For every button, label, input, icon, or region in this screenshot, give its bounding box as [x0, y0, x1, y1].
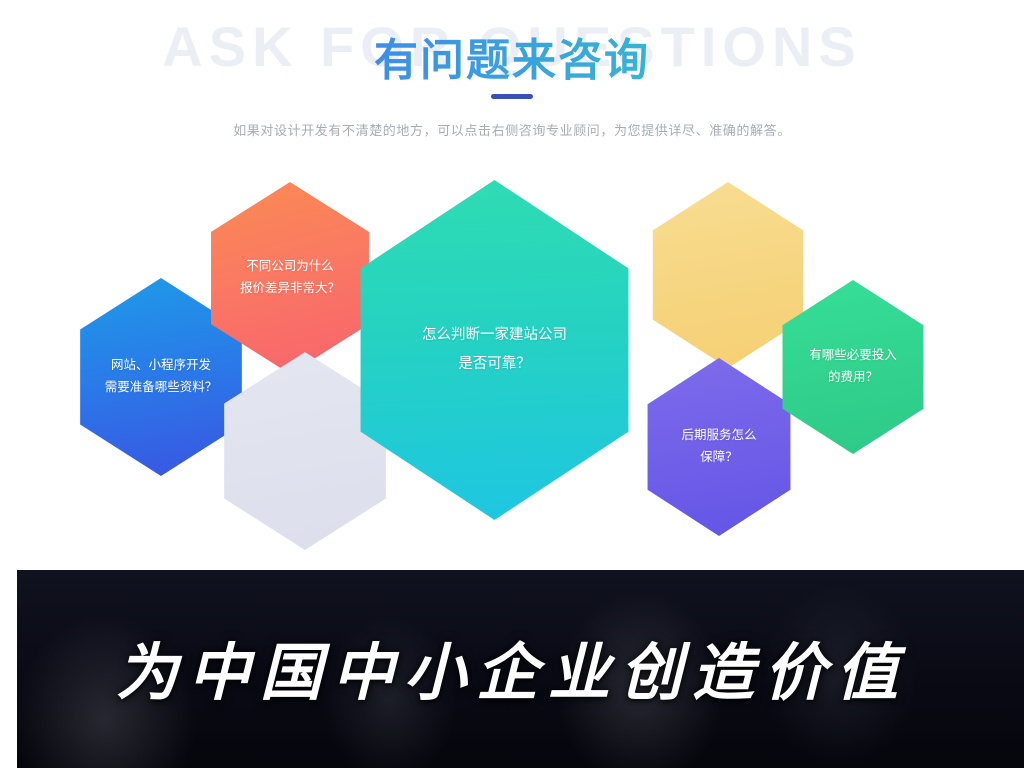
hexagon-orange-line1: 不同公司为什么	[246, 256, 334, 278]
page-subtitle: 如果对设计开发有不清楚的地方，可以点击右侧咨询专业顾问，为您提供详尽、准确的解答…	[0, 120, 1024, 139]
page-title: 有问题来咨询	[0, 24, 1024, 88]
hexagon-blue-line1: 网站、小程序开发	[111, 355, 211, 377]
hexagon-cluster: 网站、小程序开发 需要准备哪些资料？ 不同公司为什么 报价差异非常大？ 怎么判断…	[0, 160, 1024, 550]
slogan-banner: 为中国中小企业创造价值	[0, 570, 1024, 768]
hexagon-green-line2: 的费用？	[828, 367, 878, 389]
faq-section: ASK FOR QUESTIONS 有问题来咨询 如果对设计开发有不清楚的地方，…	[0, 0, 1024, 570]
hexagon-green-line1: 有哪些必要投入	[809, 345, 897, 367]
hexagon-center-line1: 怎么判断一家建站公司	[422, 321, 567, 350]
hexagon-blue-line2: 需要准备哪些资料？	[105, 377, 218, 399]
hexagon-orange-line2: 报价差异非常大？	[240, 278, 340, 300]
hexagon-question-purple[interactable]: 后期服务怎么 保障？	[643, 358, 795, 536]
slogan-text: 为中国中小企业创造价值	[0, 622, 1024, 712]
hexagon-center-line2: 是否可靠？	[458, 350, 531, 379]
hexagon-question-center[interactable]: 怎么判断一家建站公司 是否可靠？	[352, 180, 637, 520]
hexagon-purple-line2: 保障？	[700, 447, 738, 469]
title-divider	[491, 94, 533, 99]
hexagon-purple-line1: 后期服务怎么	[681, 425, 756, 447]
